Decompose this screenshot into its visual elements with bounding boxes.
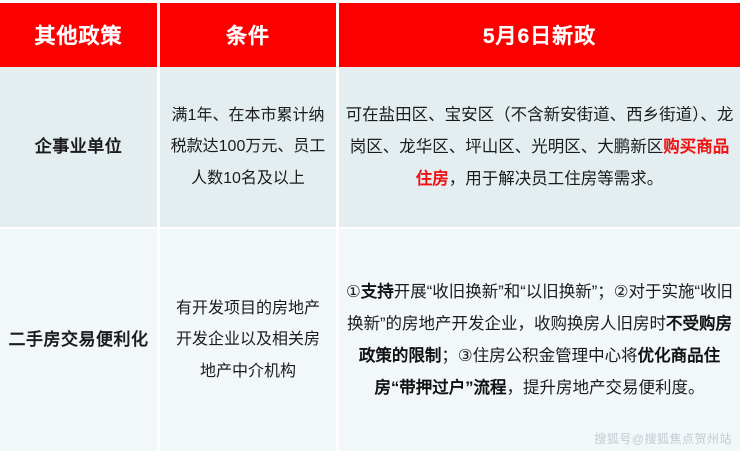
policy-item-3-text: 住房公积金管理中心将 xyxy=(473,347,638,365)
policy-item-3-number: ③ xyxy=(458,347,473,365)
policy-item-3-tail: ，提升房地产交易便利度。 xyxy=(507,379,705,397)
row-policy-enterprises: 可在盐田区、宝安区（不含新安街道、西乡街道）、龙岗区、龙华区、坪山区、光明区、大… xyxy=(339,67,740,227)
table-body: 企事业单位 满1年、在本市累计纳税款达100万元、员工人数10名及以上 可在盐田… xyxy=(0,67,740,451)
table-row: 企事业单位 满1年、在本市累计纳税款达100万元、员工人数10名及以上 可在盐田… xyxy=(0,67,740,227)
column-header-new-policy: 5月6日新政 xyxy=(339,3,740,67)
table-row: 二手房交易便利化 有开发项目的房地产开发企业以及相关房地产中介机构 ①支持开展“… xyxy=(0,229,740,451)
row-category-enterprises: 企事业单位 xyxy=(0,67,157,227)
row-category-second-hand-housing: 二手房交易便利化 xyxy=(0,229,157,451)
policy-item-2-number: ② xyxy=(614,283,629,301)
table-header-row: 其他政策 条件 5月6日新政 xyxy=(0,0,740,67)
policy-item-1-text: 开展“收旧换新”和“以旧换新”； xyxy=(394,283,614,301)
column-header-other-policies: 其他政策 xyxy=(0,3,157,67)
row-condition-second-hand-housing: 有开发项目的房地产开发企业以及相关房地产中介机构 xyxy=(160,229,336,451)
policy-item-1-number: ① xyxy=(346,283,361,301)
policy-table: 其他政策 条件 5月6日新政 企事业单位 满1年、在本市累计纳税款达100万元、… xyxy=(0,0,740,451)
row-policy-second-hand-housing: ①支持开展“收旧换新”和“以旧换新”；②对于实施“收旧换新”的房地产开发企业，收… xyxy=(339,229,740,451)
column-header-conditions: 条件 xyxy=(160,3,336,67)
row-condition-enterprises: 满1年、在本市累计纳税款达100万元、员工人数10名及以上 xyxy=(160,67,336,227)
watermark-text: 搜狐号@搜狐焦点贺州站 xyxy=(594,430,732,447)
policy-item-2-tail: ； xyxy=(441,347,458,365)
policy-text-part-2: ，用于解决员工住房等需求。 xyxy=(449,170,664,188)
policy-item-1-bold: 支持 xyxy=(361,283,394,301)
